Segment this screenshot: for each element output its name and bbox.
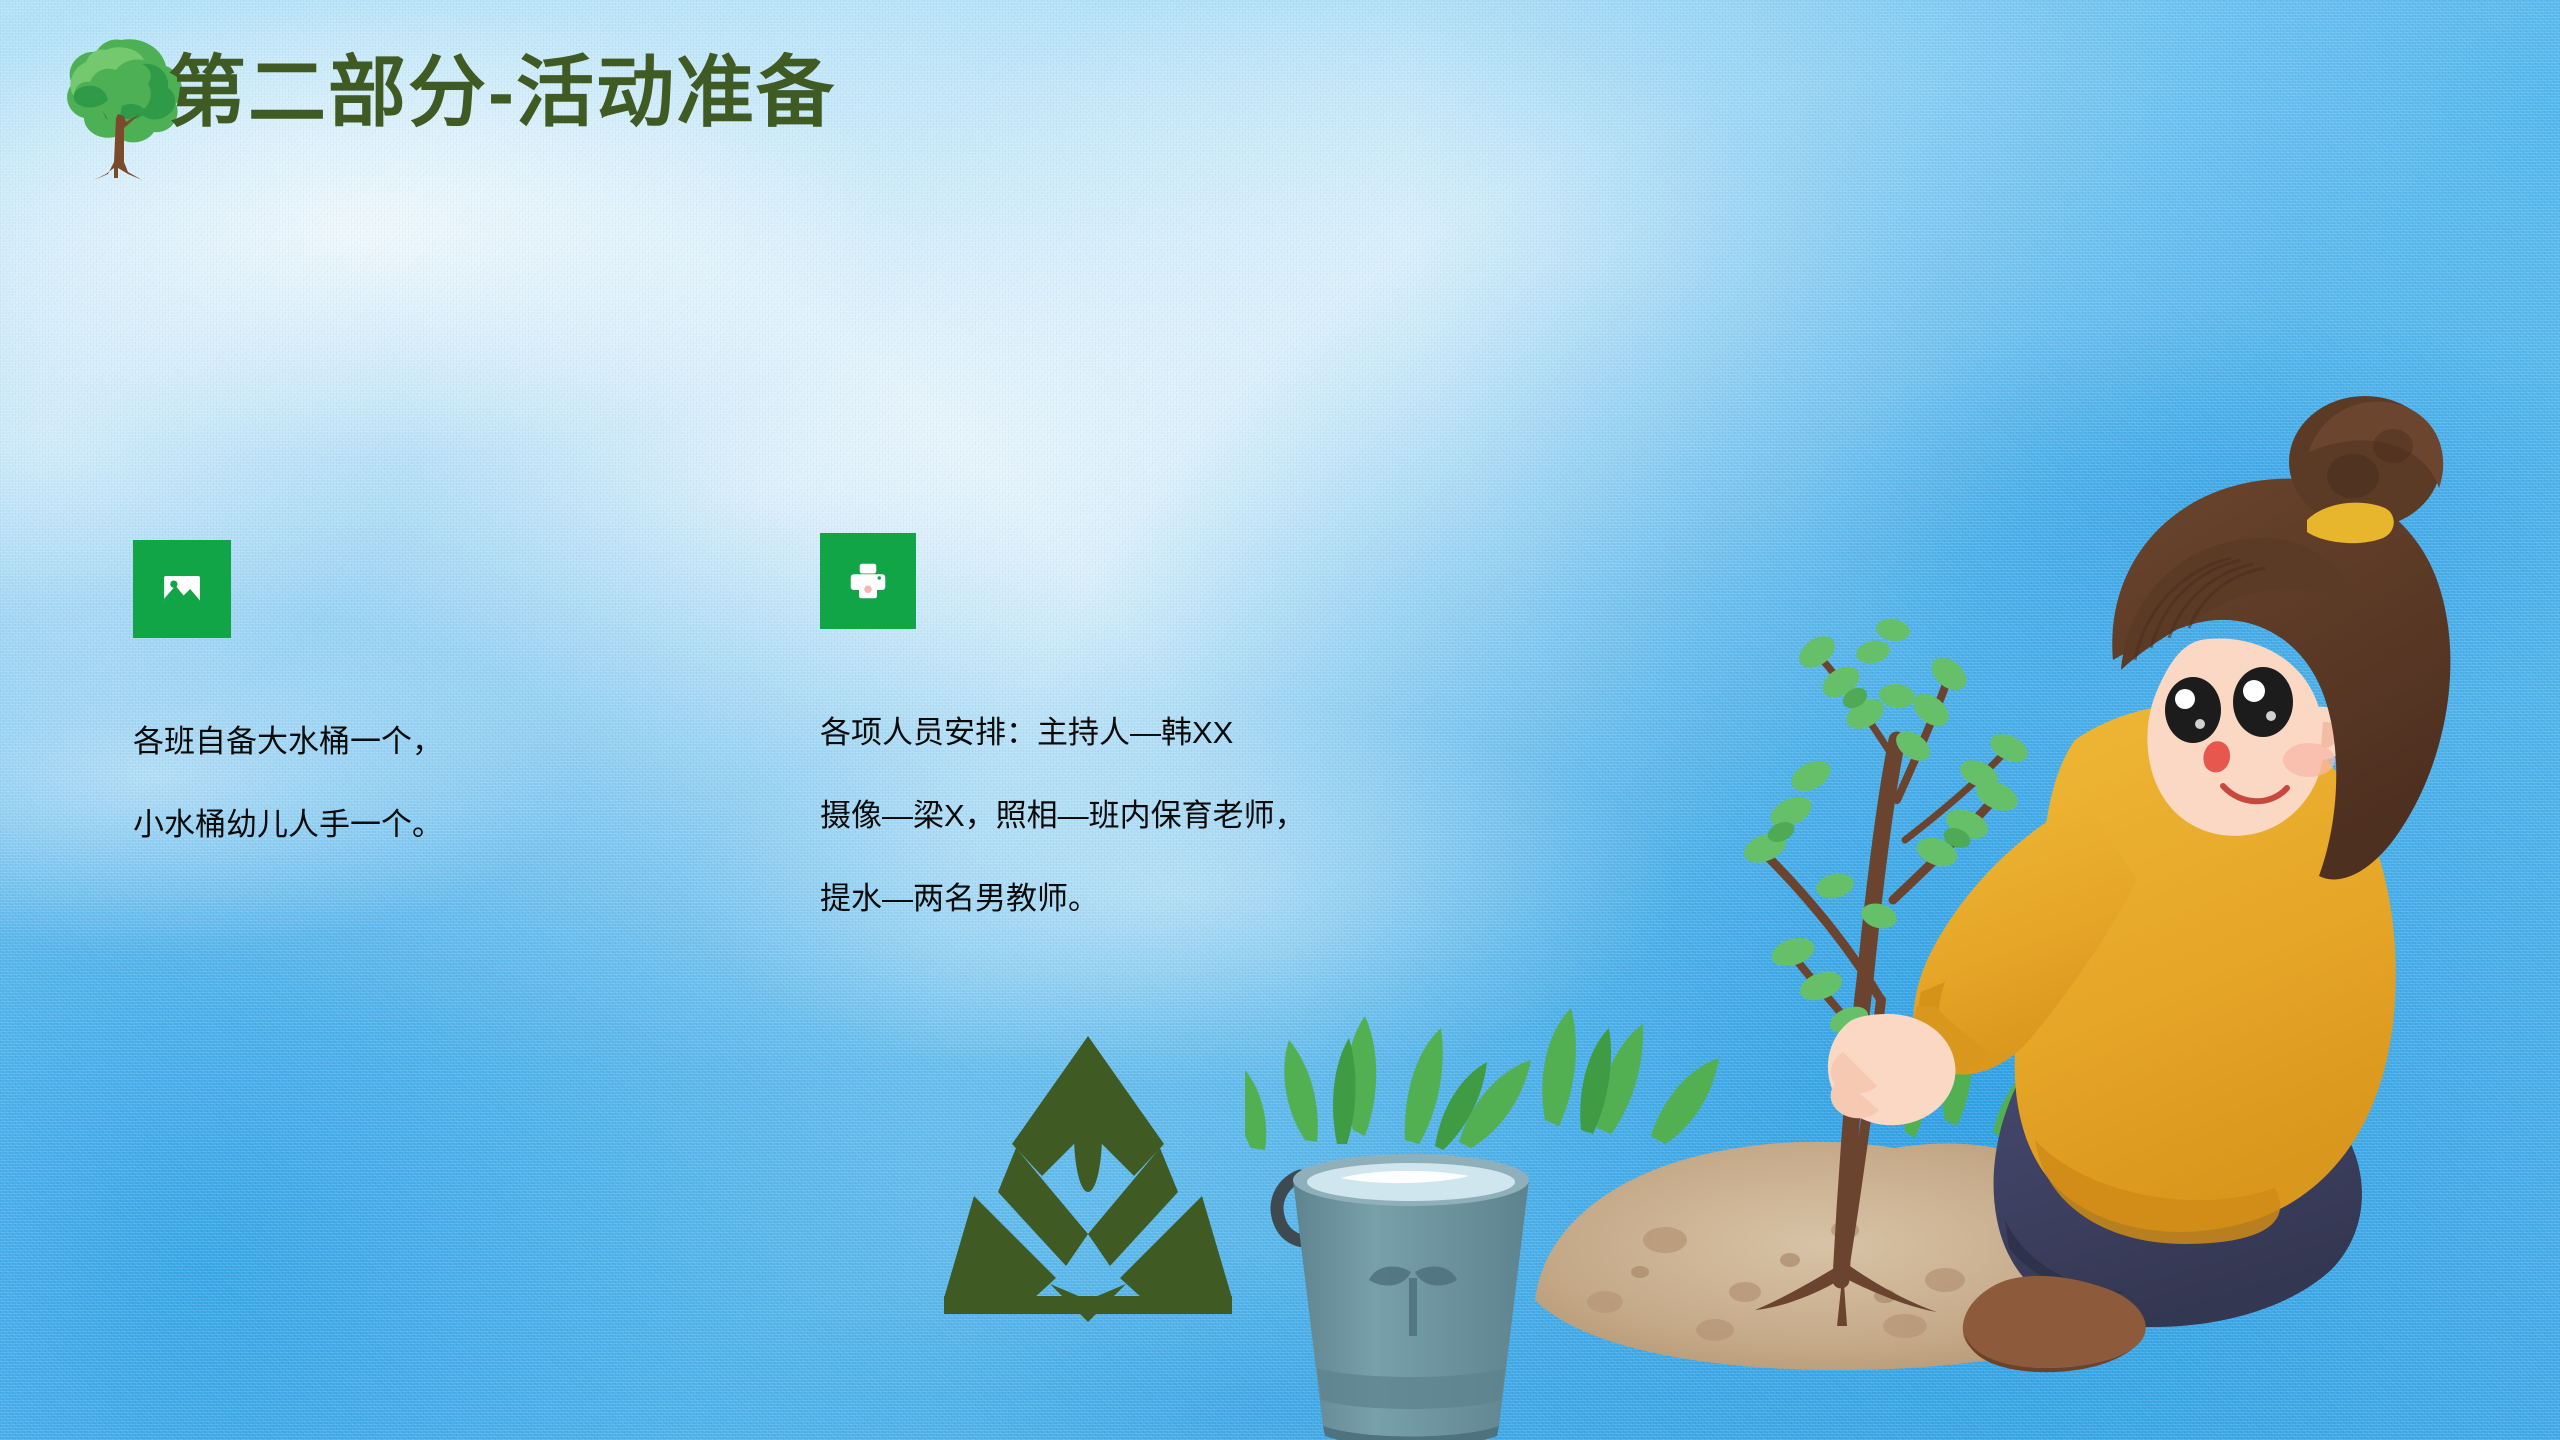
content-block-supplies: 各班自备大水桶一个， 小水桶幼儿人手一个。 [133, 540, 773, 866]
supplies-line-2: 小水桶幼儿人手一个。 [133, 783, 773, 866]
blush [2283, 743, 2335, 777]
water-bucket [1277, 1154, 1529, 1440]
girl-planting-tree-illustration [1245, 240, 2560, 1440]
leaf-triangle-logo [938, 1026, 1238, 1326]
supplies-line-1: 各班自备大水桶一个， [133, 700, 773, 783]
page-title: 第二部分-活动准备 [168, 44, 836, 140]
supplies-text: 各班自备大水桶一个， 小水桶幼儿人手一个。 [133, 700, 773, 866]
printer-icon-tile[interactable] [820, 533, 916, 629]
printer-icon [844, 557, 892, 605]
image-icon-tile[interactable] [133, 540, 231, 638]
face [2147, 639, 2324, 836]
image-icon [156, 563, 208, 615]
presentation-slide: 第二部分-活动准备 各班自备大水桶一个， 小水桶幼儿人手一个。 [0, 0, 2560, 1440]
